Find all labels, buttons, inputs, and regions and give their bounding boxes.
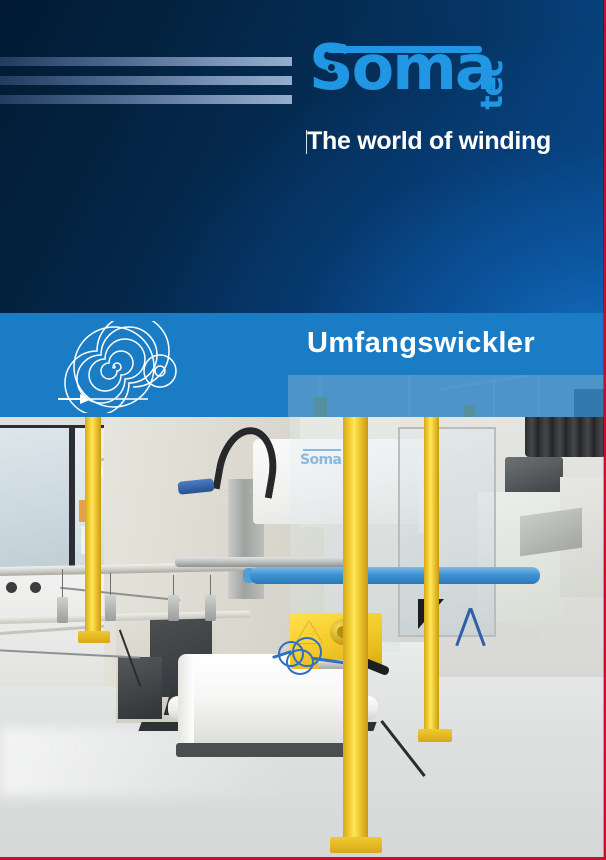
machine-internal-dark-2 — [118, 657, 162, 719]
roller-shaft — [175, 557, 365, 567]
sensor-wire — [110, 573, 111, 597]
header-banner: Soma tec The world of winding — [0, 0, 606, 313]
brochure-cover-page: Soma tec The world of winding — [0, 0, 606, 860]
window-pane-left — [0, 425, 72, 570]
logo-tec-suffix: tec — [480, 48, 506, 108]
logo-wordmark: Soma — [309, 37, 495, 99]
header-stripe-1 — [0, 57, 292, 66]
power-outlet — [6, 582, 17, 593]
header-stripe-2 — [0, 76, 292, 85]
header-stripe-3 — [0, 95, 292, 104]
header-tagline: The world of winding — [307, 127, 551, 156]
cover-photo: Soma — [0, 417, 606, 857]
header-stripes — [0, 57, 292, 105]
logo-s-dot-icon — [328, 64, 335, 71]
post-foot-left — [78, 631, 110, 643]
sensor-wire — [173, 575, 174, 597]
yellow-safety-post-right — [424, 417, 439, 735]
sensor-wire — [62, 569, 63, 599]
right-equipment-unit — [505, 457, 563, 495]
band-blue-overlay — [288, 375, 606, 417]
soma-logo: Soma tec — [309, 46, 524, 114]
paper-roll-base — [176, 743, 361, 757]
post-foot-right — [418, 729, 452, 742]
paper-roll-end-cap — [178, 654, 194, 746]
blue-air-hose — [272, 635, 342, 675]
post-foot-center — [330, 837, 382, 853]
right-plug-panel — [520, 629, 538, 642]
power-outlet — [30, 582, 41, 593]
logo-tec-text: tec — [478, 55, 508, 115]
title-band: Umfangswickler — [0, 313, 606, 417]
sensor-wire — [210, 575, 211, 597]
glass-safety-door — [398, 427, 496, 637]
yellow-safety-post-left — [85, 417, 101, 635]
safety-sensor — [57, 597, 68, 623]
safety-sensor — [205, 595, 216, 621]
overhead-duct — [525, 417, 606, 457]
safety-sensor — [105, 595, 116, 621]
safety-sensor — [168, 595, 179, 621]
page-title: Umfangswickler — [307, 327, 535, 360]
yellow-safety-post-center — [343, 417, 368, 847]
winding-spiral-icon — [52, 321, 182, 413]
blue-roller-shaft — [250, 567, 540, 584]
